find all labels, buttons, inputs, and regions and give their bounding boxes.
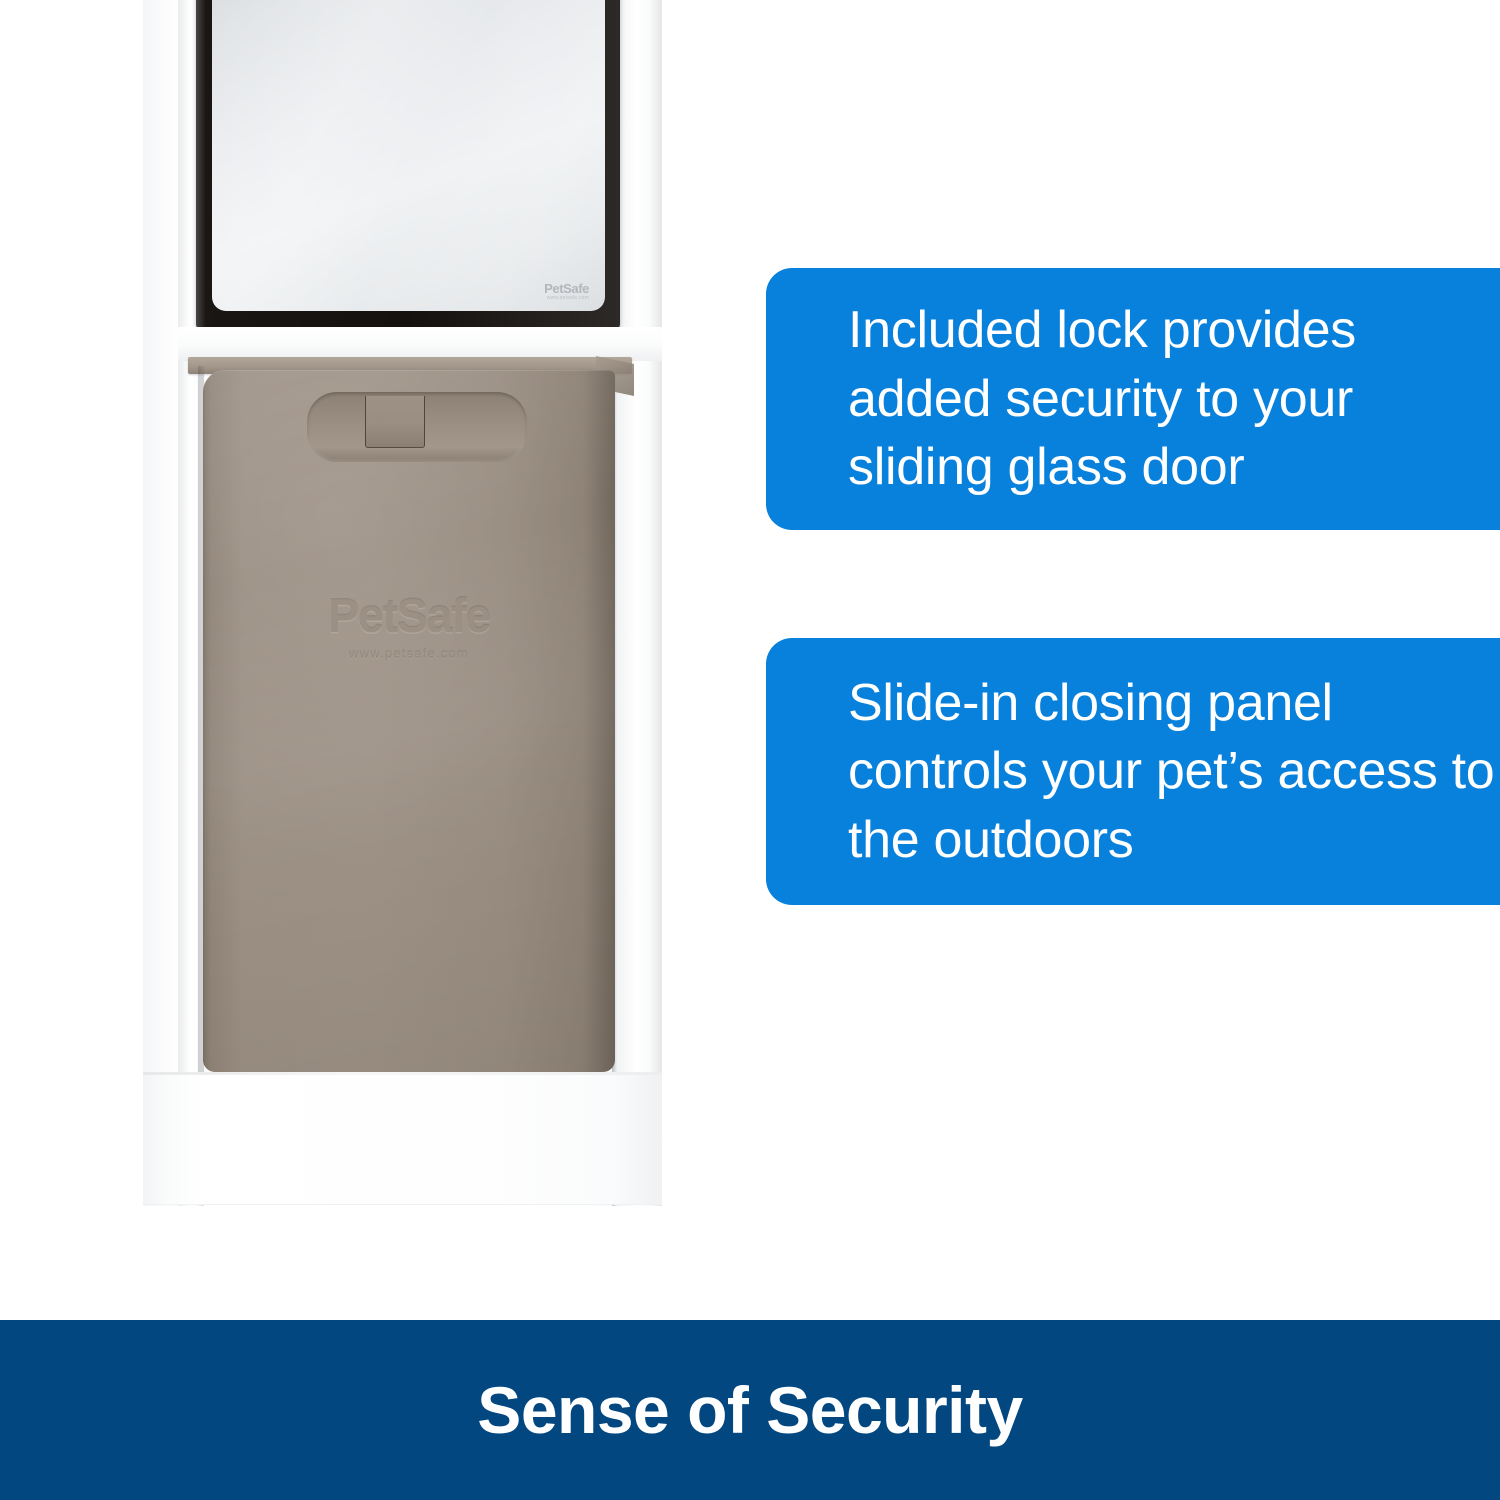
- flap-pane-sheen: [212, 0, 605, 311]
- closing-panel-handle-recess[interactable]: [307, 392, 527, 462]
- flap-petsafe-logo: PetSafe www.petsafe.com: [544, 282, 589, 301]
- bottom-banner: Sense of Security: [0, 1320, 1500, 1500]
- lock-latch-tab[interactable]: [365, 396, 425, 448]
- feature-callout-lock-text: Included lock provides added security to…: [766, 296, 1500, 502]
- frame-base: [143, 1075, 662, 1205]
- flap-logo-mark: PetSafe: [544, 282, 589, 295]
- panel-logo-sublabel: www.petsafe.com: [203, 646, 615, 661]
- closing-panel-sheen: [203, 370, 615, 1072]
- pet-door-flap-pane: PetSafe www.petsafe.com: [212, 0, 605, 311]
- closing-panel-edge-shadow: [198, 366, 205, 1074]
- banner-headline: Sense of Security: [477, 1372, 1022, 1448]
- closing-panel[interactable]: PetSafe www.petsafe.com: [203, 370, 615, 1072]
- closing-panel-petsafe-logo: PetSafe www.petsafe.com: [203, 588, 615, 661]
- marketing-image: PetSafe www.petsafe.com PetSafe www.pets…: [0, 0, 1500, 1500]
- feature-callout-closing-panel: Slide-in closing panel controls your pet…: [766, 638, 1500, 905]
- feature-callout-lock: Included lock provides added security to…: [766, 268, 1500, 530]
- panel-logo-mark: PetSafe: [203, 588, 615, 643]
- flap-logo-sublabel: www.petsafe.com: [544, 296, 589, 301]
- product-photo: PetSafe www.petsafe.com PetSafe www.pets…: [0, 0, 740, 1320]
- feature-callout-closing-panel-text: Slide-in closing panel controls your pet…: [766, 669, 1500, 875]
- frame-sill: [178, 327, 662, 361]
